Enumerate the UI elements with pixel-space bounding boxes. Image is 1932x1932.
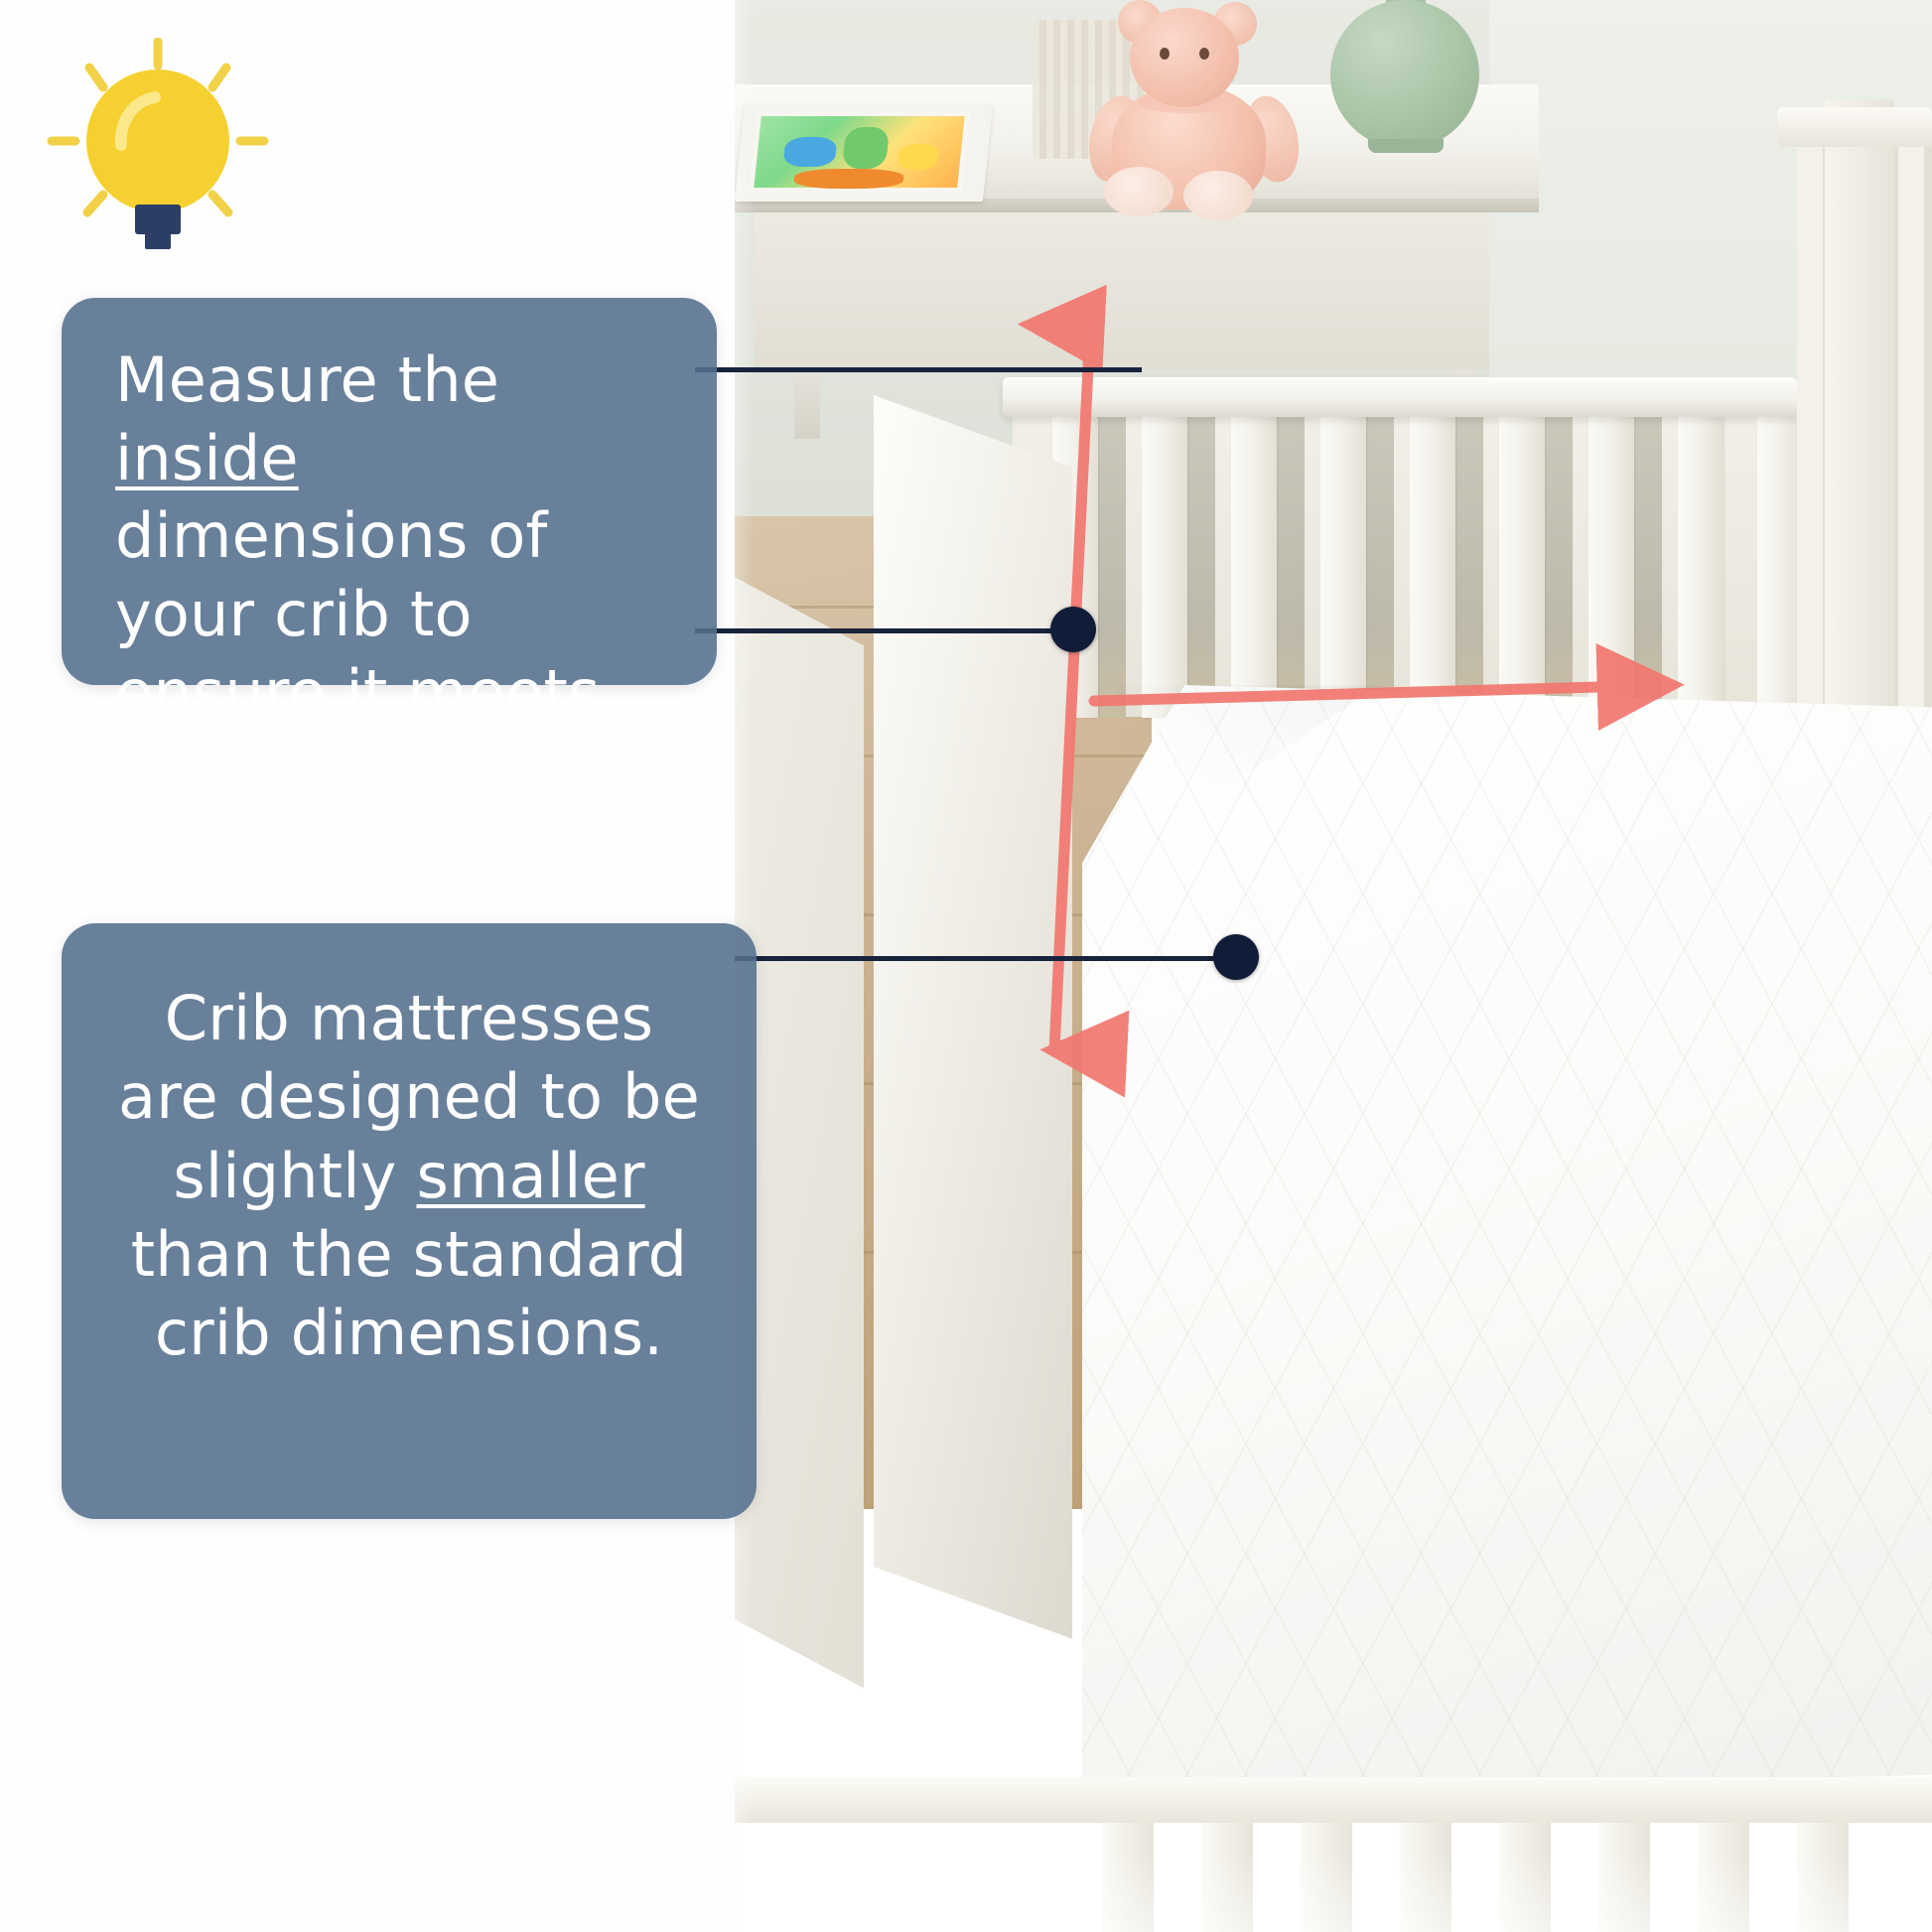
crib-top-rail-far <box>1003 377 1797 417</box>
crib-slat <box>1499 415 1545 718</box>
leader-line-bottom <box>735 956 1241 961</box>
callout-2-text: Crib mattresses are designed to be sligh… <box>118 982 700 1369</box>
lightbulb-glass <box>86 69 229 212</box>
lightbulb-icon <box>44 38 272 251</box>
teddy-bear-head <box>1130 8 1239 107</box>
leader-line-middle <box>695 628 1082 633</box>
mattress-quilting <box>1082 685 1932 1797</box>
book-illustration-orange <box>793 169 904 189</box>
teddy-bear-eye-left <box>1160 48 1170 60</box>
crib-slat <box>1231 415 1277 718</box>
dresser-body <box>755 210 1489 369</box>
infographic-canvas: Measure the inside dimensions of your cr… <box>0 0 1932 1932</box>
vase-base <box>1368 139 1444 153</box>
teddy-bear-eye-right <box>1199 48 1209 60</box>
book-illustration-yellow <box>897 144 940 170</box>
crib-corner-post <box>1825 99 1894 715</box>
leader-line-top <box>695 367 1142 372</box>
callout-1-text: Measure the inside dimensions of your cr… <box>115 344 632 807</box>
measure-inside-callout[interactable]: Measure the inside dimensions of your cr… <box>62 298 717 685</box>
crib-front-rail <box>695 1777 1932 1823</box>
crib-slat <box>1320 415 1366 718</box>
teddy-bear-foot-left <box>1104 167 1173 216</box>
crib-slat <box>1678 415 1724 718</box>
crib-near-rail <box>874 395 1072 1639</box>
crib-top-rail-right <box>1777 107 1932 147</box>
dresser-leg-left <box>794 369 820 439</box>
crib-slat <box>1588 415 1634 718</box>
leader-dot-middle <box>1050 607 1096 652</box>
mattress-smaller-callout[interactable]: Crib mattresses are designed to be sligh… <box>62 923 757 1519</box>
lightbulb-base <box>135 205 181 234</box>
crib-slat <box>1410 415 1455 718</box>
teddy-bear-foot-right <box>1183 171 1253 220</box>
book-illustration-blue <box>782 137 837 167</box>
lightbulb-contact <box>145 232 171 249</box>
vase <box>1330 0 1479 149</box>
crib-slat <box>1142 415 1187 718</box>
leader-dot-bottom <box>1213 934 1259 980</box>
